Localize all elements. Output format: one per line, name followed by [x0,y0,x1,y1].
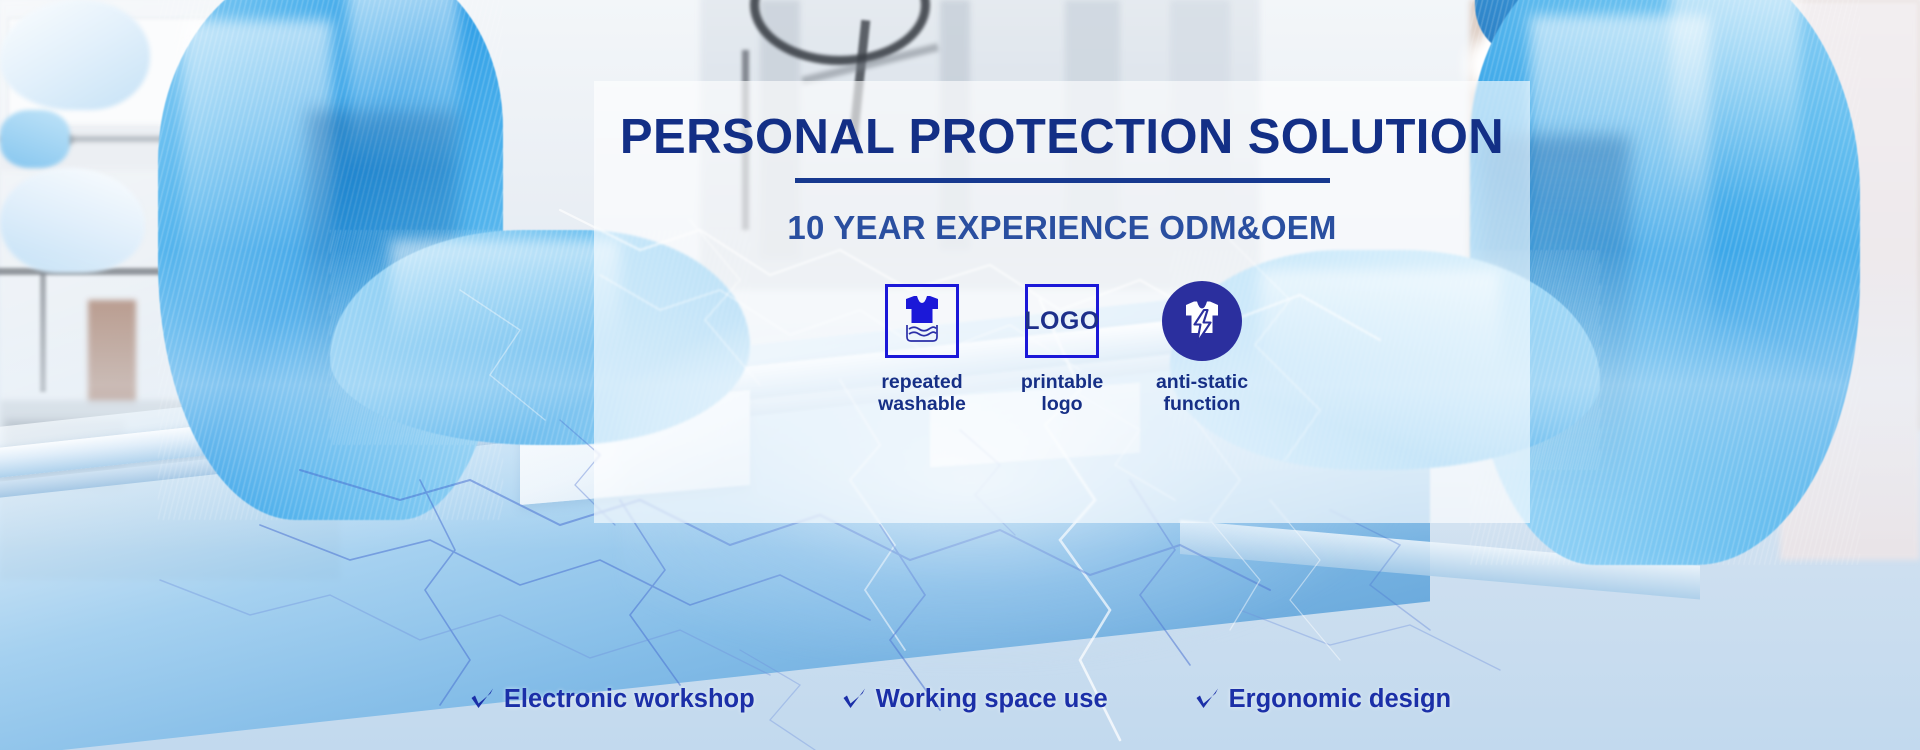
icon-wrapper [885,281,959,361]
checklist-item-label: Working space use [876,685,1108,714]
washable-icon-frame [885,284,959,358]
banner-content: PERSONAL PROTECTION SOLUTION 10 YEAR EXP… [594,81,1530,523]
check-icon [841,687,867,713]
feature-label-line1: anti-static [1156,371,1248,393]
feature-label-line1: printable [1021,371,1103,393]
worker-left-glove [0,0,150,110]
checklist: Electronic workshop Working space use Er… [0,685,1920,714]
feature-label-line2: washable [878,393,966,415]
checklist-item-electronic-workshop: Electronic workshop [469,685,755,714]
feature-repeated-washable: repeated washable [860,281,984,416]
feature-label: repeated washable [878,372,966,416]
title-divider [795,178,1330,183]
fabric-fold-2 [348,0,458,170]
checklist-item-label: Electronic workshop [504,685,755,714]
feature-label-line2: function [1164,393,1241,415]
anti-static-tshirt-icon [1172,291,1232,351]
page-subtitle: 10 YEAR EXPERIENCE ODM&OEM [787,209,1336,247]
checklist-item-label: Ergonomic design [1229,685,1451,714]
feature-label-line2: logo [1041,393,1082,415]
checklist-item-ergonomic-design: Ergonomic design [1194,685,1451,714]
fabric-fold-2 [1670,0,1800,205]
feature-list: repeated washable LOGO printable logo [860,281,1264,416]
worker-right-face-mask [0,110,70,168]
check-icon [469,687,495,713]
feature-label: anti-static function [1156,372,1248,416]
feature-anti-static: anti-static function [1140,281,1264,416]
feature-printable-logo: LOGO printable logo [1000,281,1124,416]
check-icon [1194,687,1220,713]
floor-carton [88,300,136,405]
logo-placeholder-text: LOGO [1024,307,1100,336]
anti-static-icon-circle [1162,281,1242,361]
promo-banner: PERSONAL PROTECTION SOLUTION 10 YEAR EXP… [0,0,1920,750]
icon-wrapper: LOGO [1025,281,1099,361]
checklist-item-working-space-use: Working space use [841,685,1108,714]
fabric-fold [390,240,620,350]
washable-tshirt-icon [893,292,951,350]
page-title: PERSONAL PROTECTION SOLUTION [620,109,1504,165]
feature-label-line1: repeated [881,371,962,393]
icon-wrapper [1162,281,1242,361]
printable-logo-icon: LOGO [1025,284,1099,358]
feature-label: printable logo [1021,372,1103,416]
shelf-leg-left [40,272,46,392]
